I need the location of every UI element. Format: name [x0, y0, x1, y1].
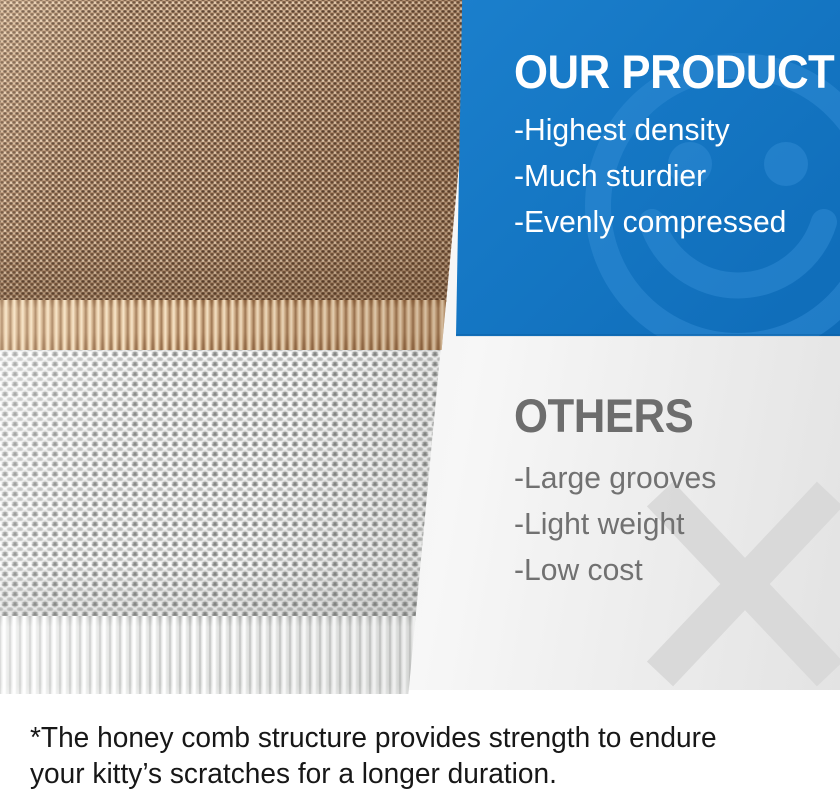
our-product-text-block: OUR PRODUCT -Highest density -Much sturd… — [514, 48, 840, 239]
our-product-heading: OUR PRODUCT — [514, 48, 834, 95]
others-bullet-2: -Light weight — [514, 508, 716, 541]
kraft-board-fluted-edge — [0, 300, 520, 350]
kraft-board-top-surface — [0, 0, 520, 302]
blue-panel-bottom-shadow — [456, 334, 840, 337]
others-heading: OTHERS — [514, 392, 708, 439]
kraft-honeycomb-board-image — [0, 0, 520, 350]
caption-line-1: *The honey comb structure provides stren… — [30, 720, 808, 756]
infographic-canvas: OUR PRODUCT -Highest density -Much sturd… — [0, 0, 840, 800]
our-product-bullet-1: -Highest density — [514, 114, 840, 147]
caption-line-2: your kitty’s scratches for a longer dura… — [30, 756, 808, 792]
our-product-bullet-2: -Much sturdier — [514, 160, 840, 193]
footnote-caption: *The honey comb structure provides stren… — [30, 720, 820, 792]
others-bullet-3: -Low cost — [514, 554, 716, 587]
others-text-block: OTHERS -Large grooves -Light weight -Low… — [514, 392, 723, 587]
our-product-bullet-3: -Evenly compressed — [514, 206, 840, 239]
others-bullet-1: -Large grooves — [514, 462, 716, 495]
